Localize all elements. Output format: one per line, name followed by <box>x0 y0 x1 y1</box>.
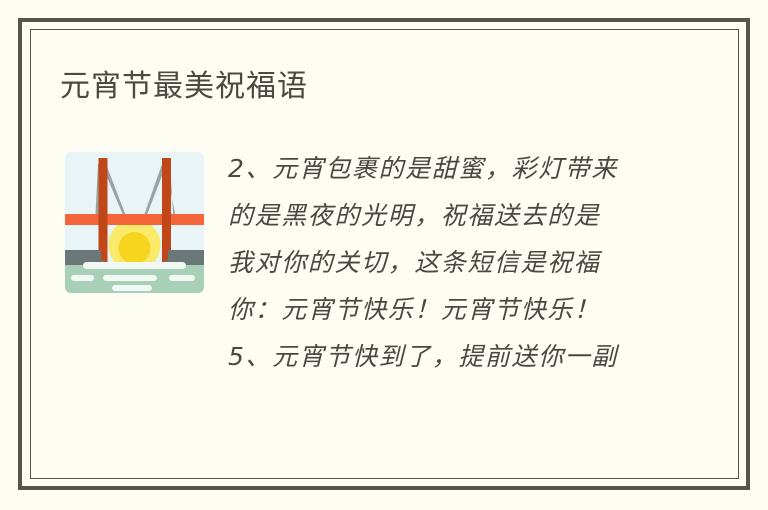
verse-line: 2、元宵包裹的是甜蜜，彩灯带来 <box>228 145 678 192</box>
verse-line: 5、元宵节快到了，提前送你一副 <box>228 333 678 380</box>
verse-line: 的是黑夜的光明，祝福送去的是 <box>228 192 678 239</box>
article-page: 元宵节最美祝福语 <box>0 0 768 510</box>
bridge-sunset-illustration <box>65 152 204 293</box>
page-title: 元宵节最美祝福语 <box>60 69 308 105</box>
verse-line: 我对你的关切，这条短信是祝福 <box>228 239 678 286</box>
verse-line: 你：元宵节快乐！元宵节快乐！ <box>228 286 678 333</box>
verse-block: 2、元宵包裹的是甜蜜，彩灯带来 的是黑夜的光明，祝福送去的是 我对你的关切，这条… <box>228 145 678 380</box>
article-content: 元宵节最美祝福语 <box>30 29 739 479</box>
